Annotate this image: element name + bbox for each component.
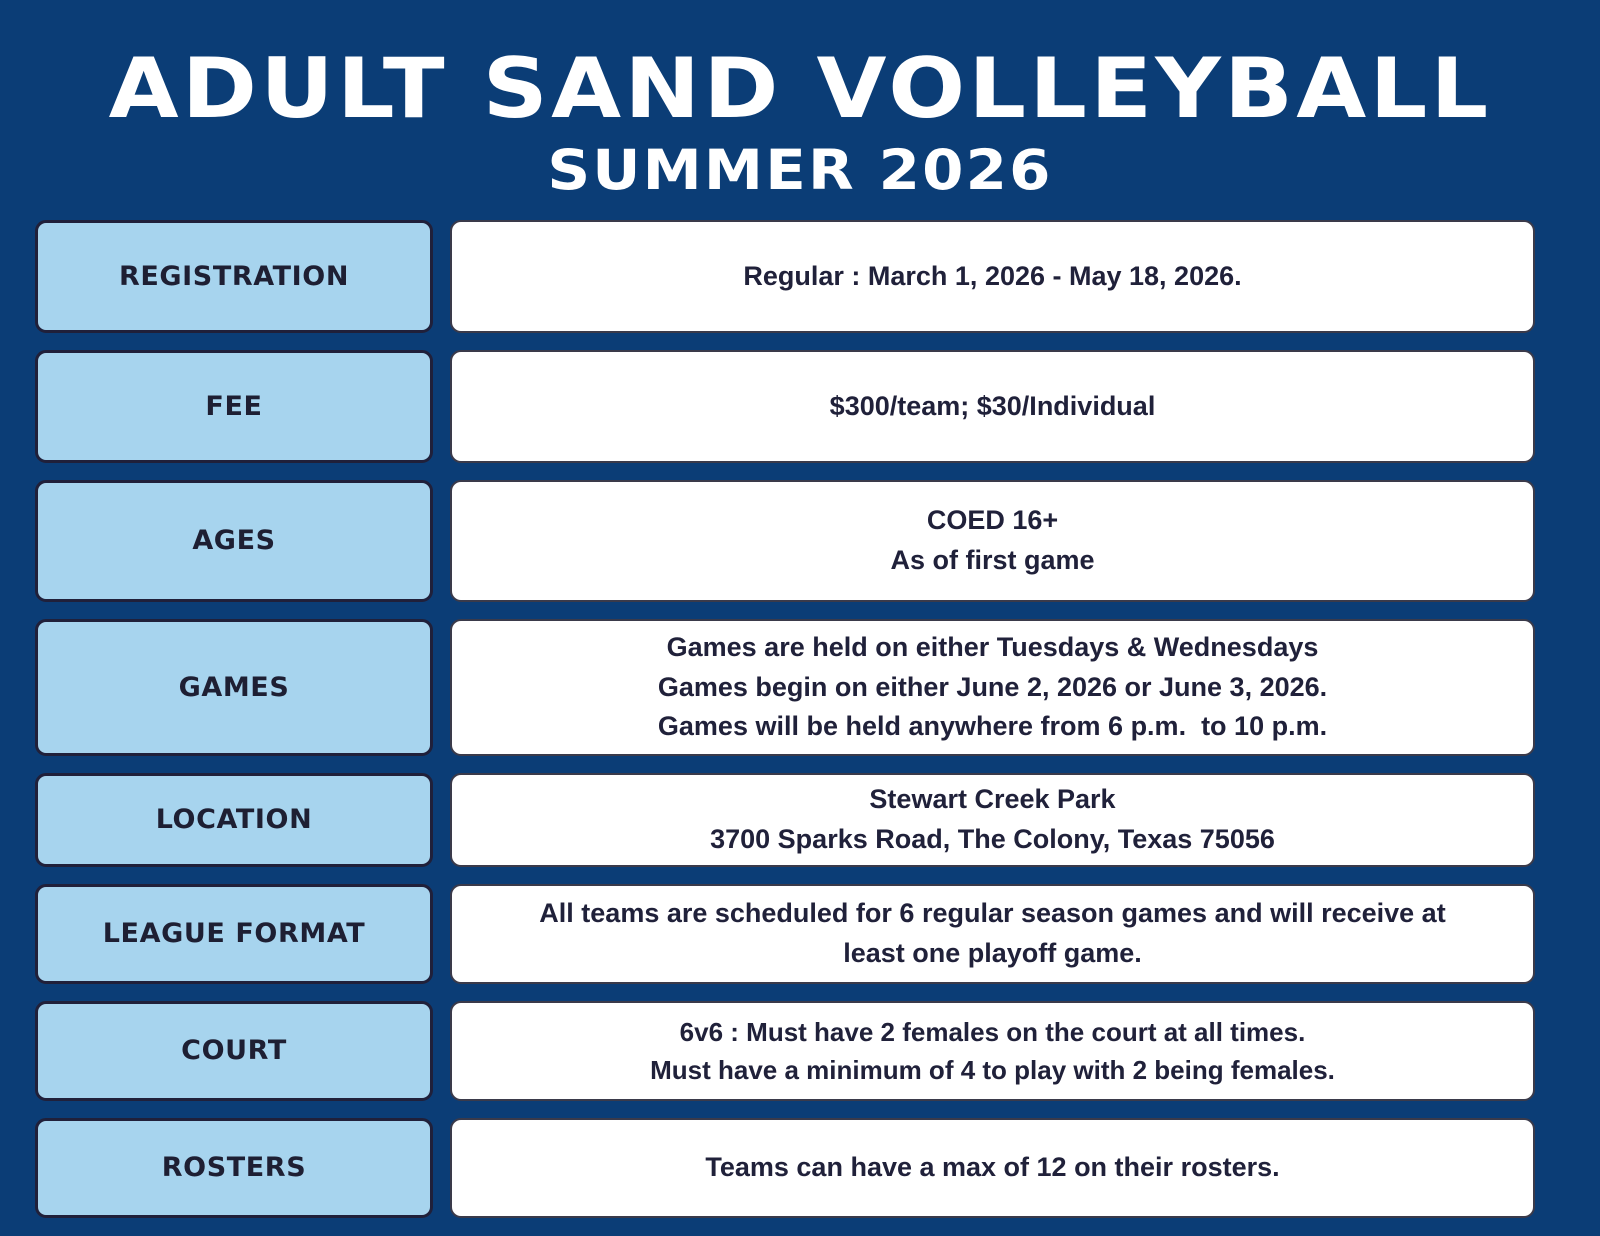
row-label-text: COURT bbox=[181, 1036, 287, 1066]
page-title: ADULT SAND VOLLEYBALL bbox=[0, 48, 1600, 129]
content-line: Games begin on either June 2, 2026 or Ju… bbox=[658, 668, 1327, 708]
content-line: 6v6 : Must have 2 females on the court a… bbox=[680, 1013, 1306, 1051]
content-line: $300/team; $30/Individual bbox=[830, 387, 1156, 427]
row-content-location: Stewart Creek Park 3700 Sparks Road, The… bbox=[450, 773, 1535, 867]
flyer-header: ADULT SAND VOLLEYBALL SUMMER 2026 bbox=[0, 0, 1600, 198]
row-content-ages: COED 16+ As of first game bbox=[450, 480, 1535, 602]
content-line: Games will be held anywhere from 6 p.m. … bbox=[658, 707, 1327, 747]
content-line: Must have a minimum of 4 to play with 2 … bbox=[650, 1051, 1335, 1089]
row-label-text: REGISTRATION bbox=[119, 262, 349, 292]
row-label-registration: REGISTRATION bbox=[35, 220, 433, 333]
row-content-fee: $300/team; $30/Individual bbox=[450, 350, 1535, 463]
flyer-page: ADULT SAND VOLLEYBALL SUMMER 2026 REGIST… bbox=[0, 0, 1600, 1236]
row-label-text: FEE bbox=[205, 392, 262, 422]
content-line: Stewart Creek Park bbox=[869, 780, 1115, 820]
row-content-league-format: All teams are scheduled for 6 regular se… bbox=[450, 884, 1535, 984]
table-row: GAMES Games are held on either Tuesdays … bbox=[35, 619, 1535, 756]
row-label-text: ROSTERS bbox=[162, 1153, 307, 1183]
row-content-rosters: Teams can have a max of 12 on their rost… bbox=[450, 1118, 1535, 1218]
page-subtitle: SUMMER 2026 bbox=[0, 143, 1600, 198]
row-label-text: LEAGUE FORMAT bbox=[103, 919, 366, 949]
row-content-court: 6v6 : Must have 2 females on the court a… bbox=[450, 1001, 1535, 1101]
info-table: REGISTRATION Regular : March 1, 2026 - M… bbox=[35, 220, 1535, 1218]
table-row: REGISTRATION Regular : March 1, 2026 - M… bbox=[35, 220, 1535, 333]
row-label-fee: FEE bbox=[35, 350, 433, 463]
content-line: All teams are scheduled for 6 regular se… bbox=[539, 894, 1445, 934]
row-label-ages: AGES bbox=[35, 480, 433, 602]
table-row: ROSTERS Teams can have a max of 12 on th… bbox=[35, 1118, 1535, 1218]
row-label-rosters: ROSTERS bbox=[35, 1118, 433, 1218]
row-content-registration: Regular : March 1, 2026 - May 18, 2026. bbox=[450, 220, 1535, 333]
row-label-text: AGES bbox=[192, 526, 275, 556]
table-row: LOCATION Stewart Creek Park 3700 Sparks … bbox=[35, 773, 1535, 867]
content-line: COED 16+ bbox=[927, 501, 1058, 541]
content-line: least one playoff game. bbox=[843, 934, 1142, 974]
table-row: AGES COED 16+ As of first game bbox=[35, 480, 1535, 602]
row-content-games: Games are held on either Tuesdays & Wedn… bbox=[450, 619, 1535, 756]
content-line: As of first game bbox=[890, 541, 1094, 581]
row-label-text: GAMES bbox=[179, 673, 290, 703]
row-label-games: GAMES bbox=[35, 619, 433, 756]
table-row: LEAGUE FORMAT All teams are scheduled fo… bbox=[35, 884, 1535, 984]
content-line: Teams can have a max of 12 on their rost… bbox=[705, 1148, 1279, 1188]
row-label-court: COURT bbox=[35, 1001, 433, 1101]
row-label-location: LOCATION bbox=[35, 773, 433, 867]
content-line: Games are held on either Tuesdays & Wedn… bbox=[667, 628, 1319, 668]
table-row: COURT 6v6 : Must have 2 females on the c… bbox=[35, 1001, 1535, 1101]
content-line: 3700 Sparks Road, The Colony, Texas 7505… bbox=[710, 820, 1275, 860]
row-label-text: LOCATION bbox=[156, 805, 313, 835]
row-label-league-format: LEAGUE FORMAT bbox=[35, 884, 433, 984]
content-line: Regular : March 1, 2026 - May 18, 2026. bbox=[743, 257, 1241, 297]
table-row: FEE $300/team; $30/Individual bbox=[35, 350, 1535, 463]
